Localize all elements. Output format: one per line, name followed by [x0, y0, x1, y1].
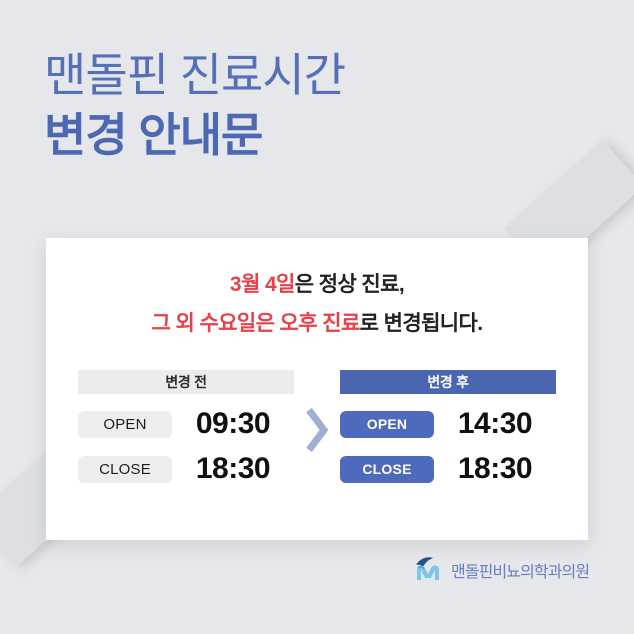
schedule-comparison: 변경 전 OPEN 09:30 CLOSE 18:30 변경 후 — [46, 370, 588, 484]
time-open-before: 09:30 — [172, 407, 294, 441]
message-line-1-rest: 은 정상 진료, — [295, 273, 404, 296]
time-open-after: 14:30 — [434, 407, 556, 441]
title-line-2: 변경 안내문 — [44, 112, 345, 158]
schedule-row-before-close: CLOSE 18:30 — [78, 454, 294, 484]
schedule-row-after-close: CLOSE 18:30 — [340, 454, 556, 484]
message-line-1-highlight: 3월 4일 — [230, 273, 295, 296]
message-line-2-highlight: 그 외 수요일은 오후 진료 — [152, 312, 360, 335]
message-line-1: 3월 4일은 정상 진료, — [46, 270, 588, 300]
chevron-right-icon — [304, 404, 330, 456]
announcement-poster: 맨돌핀 진료시간 변경 안내문 3월 4일은 정상 진료, 그 외 수요일은 오… — [0, 0, 634, 634]
label-close-before: CLOSE — [78, 456, 172, 483]
message-line-2-rest: 로 변경됩니다. — [360, 312, 483, 335]
time-close-after: 18:30 — [434, 452, 556, 486]
clinic-logo: 맨돌핀비뇨의학과의원 — [414, 556, 589, 584]
label-open-before: OPEN — [78, 411, 172, 438]
time-close-before: 18:30 — [172, 452, 294, 486]
schedule-header-after: 변경 후 — [340, 370, 556, 394]
schedule-row-after-open: OPEN 14:30 — [340, 409, 556, 439]
schedule-header-before: 변경 전 — [78, 370, 294, 394]
page-title: 맨돌핀 진료시간 변경 안내문 — [44, 52, 345, 158]
title-line-1: 맨돌핀 진료시간 — [44, 52, 345, 98]
notice-message: 3월 4일은 정상 진료, 그 외 수요일은 오후 진료로 변경됩니다. — [46, 270, 588, 340]
schedule-column-after: 변경 후 OPEN 14:30 CLOSE 18:30 — [340, 370, 556, 484]
notice-card: 3월 4일은 정상 진료, 그 외 수요일은 오후 진료로 변경됩니다. 변경 … — [46, 238, 588, 540]
label-open-after: OPEN — [340, 411, 434, 438]
dolphin-m-logo-icon — [414, 556, 444, 584]
schedule-row-before-open: OPEN 09:30 — [78, 409, 294, 439]
label-close-after: CLOSE — [340, 456, 434, 483]
schedule-column-before: 변경 전 OPEN 09:30 CLOSE 18:30 — [78, 370, 294, 484]
schedule-separator — [294, 370, 340, 456]
message-line-2: 그 외 수요일은 오후 진료로 변경됩니다. — [46, 309, 588, 339]
clinic-name: 맨돌핀비뇨의학과의원 — [451, 558, 589, 582]
